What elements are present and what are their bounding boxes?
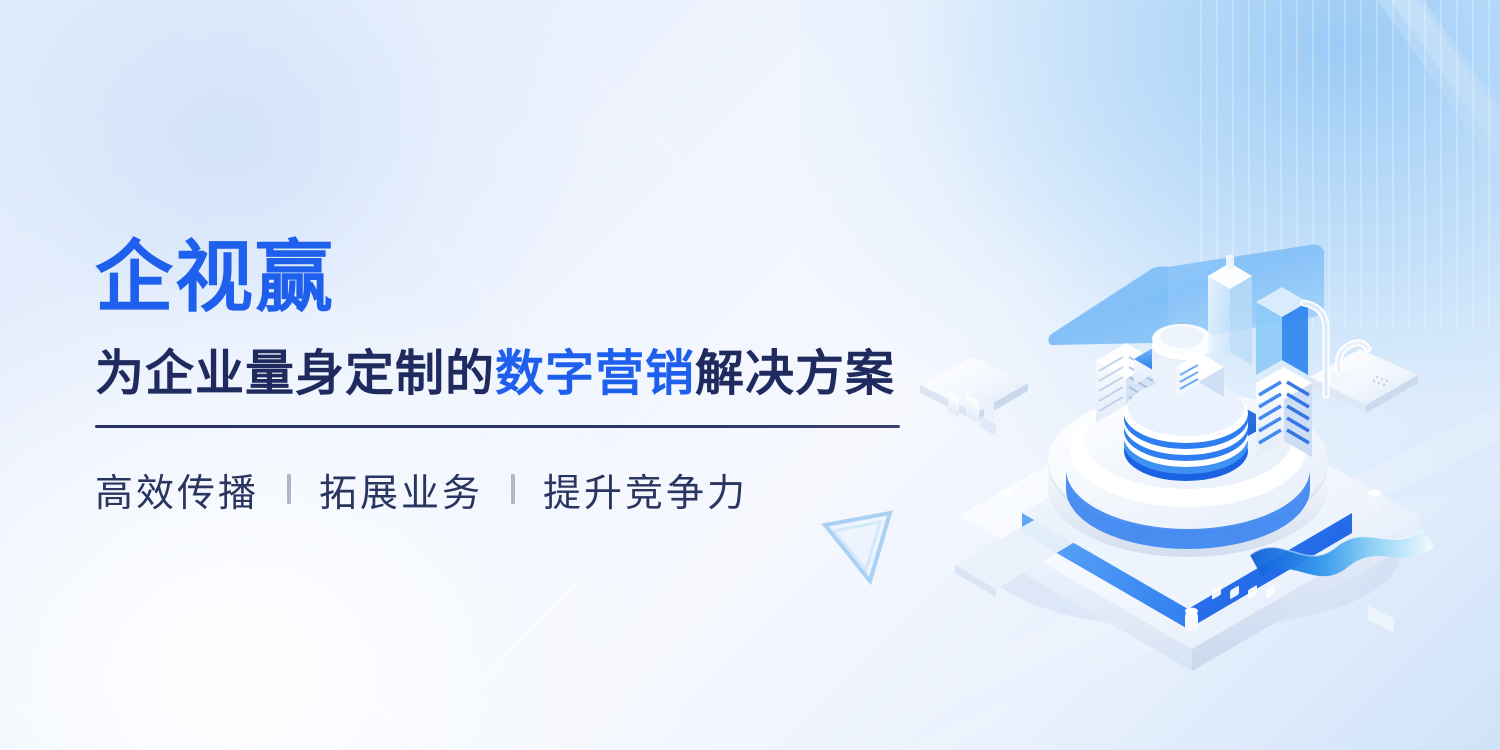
- marketing-banner: 企视赢 为企业量身定制的数字营销解决方案 高效传播 拓展业务 提升竞争力: [0, 0, 1500, 750]
- isometric-city-illustration: [900, 225, 1460, 655]
- chevron-shape: [322, 492, 647, 750]
- glass-triangle: [825, 513, 890, 581]
- tagline-item-2: 提升竞争力: [543, 462, 748, 517]
- brand-title: 企视赢: [95, 238, 925, 316]
- headline-prefix: 为企业量身定制的: [95, 347, 495, 401]
- tagline-separator-icon: [511, 474, 515, 504]
- chevron-shape: [586, 0, 954, 254]
- tagline-item-0: 高效传播: [95, 462, 259, 517]
- headline-suffix: 解决方案: [695, 347, 895, 401]
- layered-disc-stack: [1124, 380, 1248, 481]
- divider-rule: [95, 425, 900, 428]
- tagline: 高效传播 拓展业务 提升竞争力: [95, 462, 925, 517]
- tagline-item-1: 拓展业务: [319, 462, 483, 517]
- background-light-streak: [1183, 0, 1500, 211]
- side-tile-left-buildings: [920, 357, 1028, 436]
- background-light-streak: [1114, 0, 1500, 197]
- banner-text-block: 企视赢 为企业量身定制的数字营销解决方案 高效传播 拓展业务 提升竞争力: [95, 238, 925, 517]
- chevron-shape: [3, 563, 258, 750]
- tagline-separator-icon: [287, 474, 291, 504]
- headline: 为企业量身定制的数字营销解决方案: [95, 348, 925, 401]
- headline-highlight: 数字营销: [495, 347, 695, 401]
